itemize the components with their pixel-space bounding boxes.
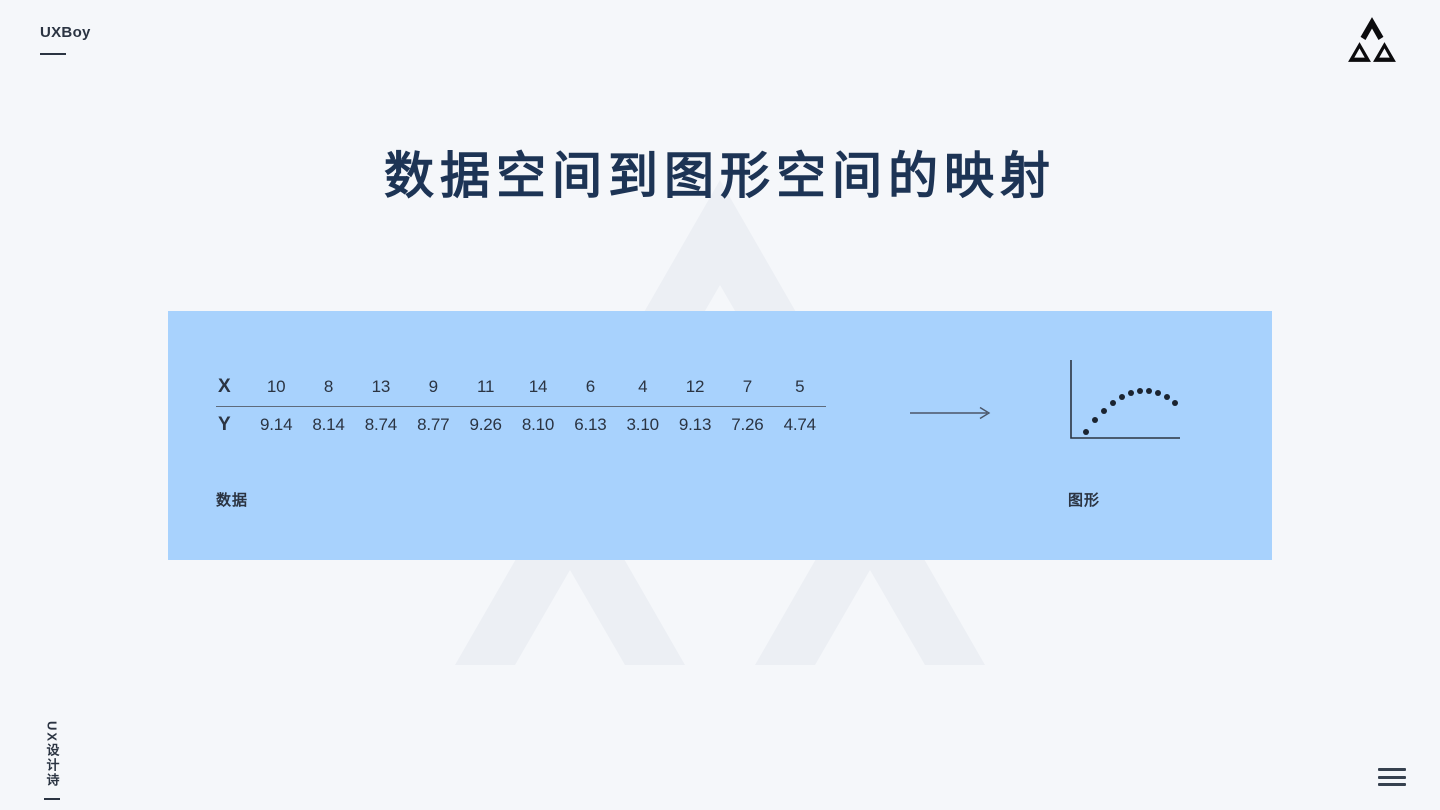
row-label-x: X (216, 373, 250, 406)
menu-line-3 (1378, 783, 1406, 786)
brand: UXBoy (40, 24, 91, 55)
cell-x-6: 6 (564, 373, 616, 406)
page-title: 数据空间到图形空间的映射 (0, 136, 1440, 208)
vertical-tag-underline (44, 798, 60, 800)
cell-x-10: 5 (774, 373, 826, 406)
cell-x-2: 13 (355, 373, 407, 406)
cell-x-4: 11 (459, 373, 511, 406)
data-table: X 10 8 13 9 11 14 6 4 12 7 5 Y 9.14 8.14 (216, 373, 826, 439)
vertical-brand-tag: UX设计诗 (32, 721, 72, 800)
cell-y-10: 4.74 (774, 406, 826, 439)
cell-x-5: 14 (512, 373, 564, 406)
table-row-x: X 10 8 13 9 11 14 6 4 12 7 5 (216, 373, 826, 406)
cell-y-5: 8.10 (512, 406, 564, 439)
cell-y-1: 8.14 (302, 406, 354, 439)
table-row-y: Y 9.14 8.14 8.74 8.77 9.26 8.10 6.13 3.1… (216, 406, 826, 439)
hamburger-menu-icon[interactable] (1378, 768, 1406, 786)
cell-y-0: 9.14 (250, 406, 302, 439)
arrow-right-icon (910, 406, 996, 420)
cell-y-6: 6.13 (564, 406, 616, 439)
graphic-caption: 图形 (1068, 489, 1100, 510)
cell-x-9: 7 (721, 373, 773, 406)
vertical-brand-text: UX设计诗 (46, 721, 59, 788)
triangle-logo-icon (1346, 14, 1398, 66)
brand-name: UXBoy (40, 24, 91, 42)
brand-underline (40, 53, 66, 55)
chart-points (1083, 388, 1178, 435)
cell-x-7: 4 (617, 373, 669, 406)
cell-y-8: 9.13 (669, 406, 721, 439)
cell-y-4: 9.26 (459, 406, 511, 439)
chart-axes (1071, 360, 1180, 438)
cell-x-8: 12 (669, 373, 721, 406)
cell-x-1: 8 (302, 373, 354, 406)
content-panel: X 10 8 13 9 11 14 6 4 12 7 5 Y 9.14 8.14 (168, 311, 1272, 560)
cell-x-0: 10 (250, 373, 302, 406)
cell-y-3: 8.77 (407, 406, 459, 439)
cell-y-2: 8.74 (355, 406, 407, 439)
cell-y-7: 3.10 (617, 406, 669, 439)
cell-x-3: 9 (407, 373, 459, 406)
menu-line-1 (1378, 768, 1406, 771)
data-caption: 数据 (216, 489, 248, 510)
mini-scatter-chart (1068, 358, 1182, 444)
menu-line-2 (1378, 776, 1406, 779)
data-table-block: X 10 8 13 9 11 14 6 4 12 7 5 Y 9.14 8.14 (216, 373, 826, 439)
row-label-y: Y (216, 406, 250, 439)
cell-y-9: 7.26 (721, 406, 773, 439)
